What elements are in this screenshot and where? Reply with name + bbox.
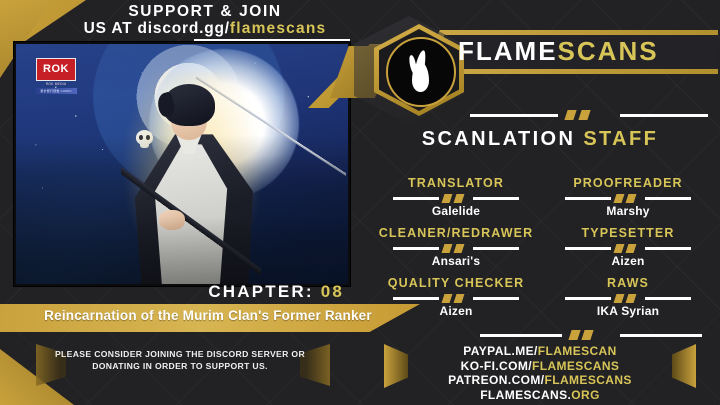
staff-role: TYPESETTER: [542, 226, 714, 242]
support-note-line1: PLEASE CONSIDER JOINING THE DISCORD SERV…: [40, 348, 320, 360]
link-kofi-prefix: KO-FI.COM/: [461, 359, 532, 373]
brand-name: FLAMESCANS: [458, 36, 659, 67]
staff-entry-translator: TRANSLATOR Galelide: [370, 176, 542, 218]
divider-top: [470, 110, 708, 120]
support-header: SUPPORT & JOIN US AT discord.gg/flamesca…: [60, 4, 350, 42]
publisher-logo: ROK ROK MEDIA 累計発行部数 COMIC: [34, 58, 78, 92]
chapter-label-text: CHAPTER:: [208, 282, 313, 301]
support-note: PLEASE CONSIDER JOINING THE DISCORD SERV…: [40, 348, 320, 373]
staff-divider-line-left: [393, 247, 439, 250]
staff-role: QUALITY CHECKER: [370, 276, 542, 292]
staff-name: Ansari's: [370, 254, 542, 268]
link-patreon[interactable]: PATREON.COM/FLAMESCANS: [360, 373, 720, 388]
brand-name-flame: FLAME: [458, 36, 558, 66]
staff-name: Aizen: [370, 304, 542, 318]
publisher-logo-subtitle: ROK MEDIA: [34, 82, 78, 86]
staff-entry-quality-checker: QUALITY CHECKER Aizen: [370, 276, 542, 318]
staff-divider-line-right: [645, 197, 691, 200]
staff-divider-line-left: [565, 247, 611, 250]
divider-top-slash-2: [578, 110, 590, 120]
staff-entry-typesetter: TYPESETTER Aizen: [542, 226, 714, 268]
staff-divider-slash-2: [626, 194, 637, 203]
staff-row: CLEANER/REDRAWER Ansari's TYPESETTER Aiz…: [370, 226, 714, 276]
link-paypal-prefix: PAYPAL.ME/: [463, 344, 537, 358]
flamescans-logo: [374, 24, 464, 116]
link-kofi-handle: FLAMESCANS: [532, 359, 619, 373]
support-header-line2: US AT discord.gg/flamescans: [60, 21, 350, 38]
staff-divider-line-right: [473, 247, 519, 250]
link-kofi[interactable]: KO-FI.COM/FLAMESCANS: [360, 359, 720, 374]
support-links: PAYPAL.ME/FLAMESCAN KO-FI.COM/FLAMESCANS…: [360, 344, 720, 403]
flame-icon: [410, 50, 430, 92]
link-paypal-handle: FLAMESCAN: [538, 344, 617, 358]
staff-entry-proofreader: PROOFREADER Marshy: [542, 176, 714, 218]
right-panel: FLAMESCANS SCANLATION STAFF TRANSLATOR G…: [360, 0, 720, 405]
brand-name-scans: SCANS: [558, 36, 659, 66]
staff-divider-line-right: [645, 247, 691, 250]
staff-name: IKA Syrian: [542, 304, 714, 318]
staff-divider-slash-1: [442, 294, 453, 303]
divider-bottom-slash-1: [568, 330, 580, 340]
link-website[interactable]: FLAMESCANS.ORG: [360, 388, 720, 403]
divider-top-line-left: [470, 114, 558, 117]
staff-role: TRANSLATOR: [370, 176, 542, 192]
staff-divider-line-right: [473, 197, 519, 200]
staff-role: PROOFREADER: [542, 176, 714, 192]
staff-role: CLEANER/REDRAWER: [370, 226, 542, 242]
publisher-logo-banner: 累計発行部数 COMIC: [35, 88, 77, 94]
staff-divider: [393, 194, 519, 203]
staff-divider-line-right: [473, 297, 519, 300]
staff-divider-slash-2: [626, 244, 637, 253]
staff-grid: TRANSLATOR Galelide PROOFREADER Marshy C…: [370, 176, 714, 326]
staff-divider-slash-1: [614, 244, 625, 253]
support-header-line1: SUPPORT & JOIN: [60, 4, 350, 21]
staff-title-scanlation: SCANLATION: [422, 128, 576, 150]
staff-divider-line-left: [565, 197, 611, 200]
publisher-logo-badge: ROK: [36, 58, 76, 81]
staff-section-title: SCANLATION STAFF: [360, 128, 720, 151]
staff-divider: [565, 244, 691, 253]
staff-divider: [393, 244, 519, 253]
staff-divider-slash-1: [442, 244, 453, 253]
staff-name: Aizen: [542, 254, 714, 268]
support-note-line2: DONATING IN ORDER TO SUPPORT US.: [40, 360, 320, 372]
staff-divider-slash-2: [454, 294, 465, 303]
staff-name: Marshy: [542, 204, 714, 218]
staff-divider-slash-2: [626, 294, 637, 303]
staff-divider-line-right: [645, 297, 691, 300]
publisher-logo-text: ROK: [43, 64, 69, 75]
staff-divider: [565, 194, 691, 203]
link-website-tld: ORG: [571, 388, 600, 402]
staff-row: TRANSLATOR Galelide PROOFREADER Marshy: [370, 176, 714, 226]
staff-divider-slash-2: [454, 194, 465, 203]
discord-url-prefix: US AT discord.gg/: [84, 20, 230, 37]
staff-divider-slash-1: [614, 194, 625, 203]
staff-divider-slash-1: [614, 294, 625, 303]
divider-bottom-line-left: [480, 334, 562, 337]
staff-row: QUALITY CHECKER Aizen RAWS IKA Syrian: [370, 276, 714, 326]
chapter-label: CHAPTER: 08: [208, 282, 344, 302]
staff-name: Galelide: [370, 204, 542, 218]
divider-bottom: [480, 330, 702, 340]
left-panel: SUPPORT & JOIN US AT discord.gg/flamesca…: [0, 0, 358, 405]
staff-title-staff: STAFF: [583, 128, 658, 150]
divider-top-slash-1: [564, 110, 576, 120]
staff-divider: [565, 294, 691, 303]
discord-invite-code[interactable]: flamescans: [230, 20, 326, 37]
divider-bottom-slash-2: [581, 330, 593, 340]
cover-art: ROK ROK MEDIA 累計発行部数 COMIC: [14, 42, 350, 286]
link-patreon-handle: FLAMESCANS: [545, 373, 632, 387]
link-website-prefix: FLAMESCANS.: [480, 388, 571, 402]
staff-divider-line-left: [393, 297, 439, 300]
staff-entry-raws: RAWS IKA Syrian: [542, 276, 714, 318]
divider-top-line-right: [620, 114, 708, 117]
credits-page: SUPPORT & JOIN US AT discord.gg/flamesca…: [0, 0, 720, 405]
staff-divider: [393, 294, 519, 303]
divider-bottom-line-right: [620, 334, 702, 337]
staff-divider-slash-1: [442, 194, 453, 203]
staff-divider-line-left: [565, 297, 611, 300]
staff-divider-slash-2: [454, 244, 465, 253]
link-paypal[interactable]: PAYPAL.ME/FLAMESCAN: [360, 344, 720, 359]
cover-art-scene: ROK ROK MEDIA 累計発行部数 COMIC: [16, 44, 348, 284]
staff-entry-cleaner-redrawer: CLEANER/REDRAWER Ansari's: [370, 226, 542, 268]
staff-role: RAWS: [542, 276, 714, 292]
link-patreon-prefix: PATREON.COM/: [448, 373, 544, 387]
staff-divider-line-left: [393, 197, 439, 200]
